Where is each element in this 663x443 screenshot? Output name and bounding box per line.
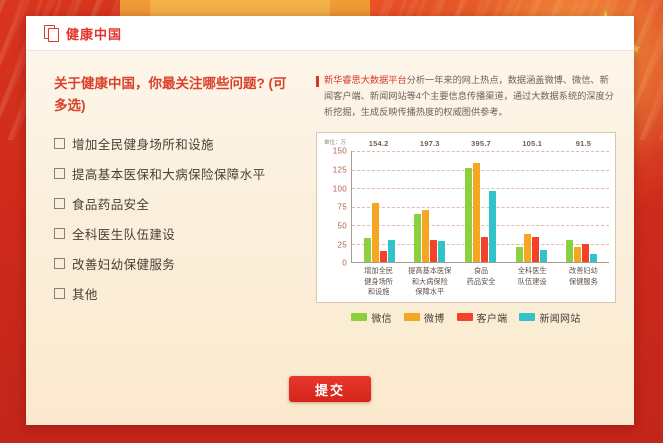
chart-plot-wrapper: 1501251007550250 xyxy=(323,151,609,263)
checkbox-icon[interactable] xyxy=(54,258,65,269)
chart-x-label: 提高基本医保和大病保险保障水平 xyxy=(404,266,455,297)
chart-bar xyxy=(489,191,496,263)
checkbox-icon[interactable] xyxy=(54,288,65,299)
chart-total-value: 197.3 xyxy=(404,139,455,150)
chart-total-value: 91.5 xyxy=(558,139,609,150)
chart-bar xyxy=(380,251,387,262)
chart-bar xyxy=(438,241,445,262)
option-label: 改善妇幼保健服务 xyxy=(72,254,175,273)
card-body: 关于健康中国，你最关注哪些问题? (可多选) 增加全民健身场所和设施提高基本医保… xyxy=(26,51,634,425)
brand-title: 健康中国 xyxy=(66,24,122,43)
options-list: 增加全民健身场所和设施提高基本医保和大病保险保障水平食品药品安全全科医生队伍建设… xyxy=(54,134,310,303)
chart-total-value: 105.1 xyxy=(507,139,558,150)
option-label: 全科医生队伍建设 xyxy=(72,224,175,243)
legend-swatch xyxy=(519,313,535,321)
checkbox-icon[interactable] xyxy=(54,198,65,209)
legend-swatch xyxy=(457,313,473,321)
page-title: 关于健康中国，你最关注哪些问题? (可多选) xyxy=(54,73,299,118)
option-row-2[interactable]: 食品药品安全 xyxy=(54,194,310,213)
chart-plot-area xyxy=(351,151,609,263)
option-row-0[interactable]: 增加全民健身场所和设施 xyxy=(54,134,310,153)
chart-bar xyxy=(540,250,547,263)
chart-x-axis-labels: 增加全民健身场所和设施提高基本医保和大病保险保障水平食品药品安全全科医生队伍建设… xyxy=(353,266,609,297)
legend-item-微信: 微信 xyxy=(351,310,392,325)
checkbox-icon[interactable] xyxy=(54,138,65,149)
chart-y-tick: 75 xyxy=(338,203,348,212)
hotspot-bar-chart: 单位：万 154.2197.3395.7105.191.5 1501251007… xyxy=(316,132,616,302)
chart-legend: 微信微博客户端新闻网站 xyxy=(316,310,616,325)
chart-bar xyxy=(481,237,488,262)
chart-bar xyxy=(582,244,589,262)
checkbox-icon[interactable] xyxy=(54,228,65,239)
checkbox-icon[interactable] xyxy=(54,168,65,179)
card-header: 健康中国 xyxy=(26,16,634,51)
chart-bar-group xyxy=(354,151,405,262)
chart-bar xyxy=(372,203,379,262)
submit-area: 提交 xyxy=(26,376,634,402)
chart-bar xyxy=(388,240,395,263)
chart-y-tick: 125 xyxy=(333,166,347,175)
chart-bar-group xyxy=(506,151,557,262)
chart-unit-label: 单位：万 xyxy=(324,138,346,146)
data-panel: 新华睿思大数据平台分析一年来的网上热点，数据涵盖微博、微信、新闻客户端、新闻网站… xyxy=(310,51,634,425)
option-row-1[interactable]: 提高基本医保和大病保险保障水平 xyxy=(54,164,310,183)
chart-bar xyxy=(516,247,523,263)
survey-question-panel: 关于健康中国，你最关注哪些问题? (可多选) 增加全民健身场所和设施提高基本医保… xyxy=(26,51,310,425)
option-row-3[interactable]: 全科医生队伍建设 xyxy=(54,224,310,243)
legend-item-微博: 微博 xyxy=(404,310,445,325)
chart-bar xyxy=(524,234,531,263)
legend-swatch xyxy=(404,313,420,321)
submit-button[interactable]: 提交 xyxy=(289,376,371,402)
chart-bar-group xyxy=(556,151,607,262)
legend-label: 微博 xyxy=(424,310,445,325)
chart-x-label: 增加全民健身场所和设施 xyxy=(353,266,404,297)
chart-bar xyxy=(566,240,573,262)
legend-label: 新闻网站 xyxy=(539,310,580,325)
chart-x-label: 全科医生队伍建设 xyxy=(507,266,558,297)
chart-bar xyxy=(430,240,437,262)
chart-x-label: 改善妇幼保健服务 xyxy=(558,266,609,297)
chart-bar xyxy=(422,210,429,263)
chart-y-tick: 25 xyxy=(338,240,348,249)
option-label: 食品药品安全 xyxy=(72,194,149,213)
legend-item-新闻网站: 新闻网站 xyxy=(519,310,580,325)
chart-bar-group xyxy=(405,151,456,262)
chart-total-labels: 154.2197.3395.7105.191.5 xyxy=(353,139,609,150)
option-row-5[interactable]: 其他 xyxy=(54,284,310,303)
description-accent-bar xyxy=(316,76,319,87)
option-label: 增加全民健身场所和设施 xyxy=(72,134,214,153)
legend-label: 客户端 xyxy=(477,310,508,325)
chart-bar-group xyxy=(455,151,506,262)
chart-total-value: 154.2 xyxy=(353,139,404,150)
description-block: 新华睿思大数据平台分析一年来的网上热点，数据涵盖微博、微信、新闻客户端、新闻网站… xyxy=(316,73,616,120)
chart-y-tick: 150 xyxy=(333,147,347,156)
chart-bar xyxy=(414,214,421,262)
chart-bars xyxy=(352,151,609,262)
option-row-4[interactable]: 改善妇幼保健服务 xyxy=(54,254,310,273)
survey-card: 健康中国 关于健康中国，你最关注哪些问题? (可多选) 增加全民健身场所和设施提… xyxy=(26,16,634,424)
chart-total-value: 395.7 xyxy=(455,139,506,150)
chart-bar xyxy=(532,237,539,262)
chart-x-label: 食品药品安全 xyxy=(455,266,506,297)
document-copy-icon xyxy=(44,25,58,41)
chart-y-tick: 50 xyxy=(338,222,348,231)
description-highlight: 新华睿思大数据平台 xyxy=(324,75,407,85)
legend-item-客户端: 客户端 xyxy=(457,310,508,325)
chart-bar xyxy=(473,163,480,262)
description-text: 新华睿思大数据平台分析一年来的网上热点，数据涵盖微博、微信、新闻客户端、新闻网站… xyxy=(324,73,616,120)
chart-y-axis: 1501251007550250 xyxy=(323,151,351,263)
option-label: 其他 xyxy=(72,284,98,303)
chart-bar xyxy=(364,238,371,262)
legend-swatch xyxy=(351,313,367,321)
option-label: 提高基本医保和大病保险保障水平 xyxy=(72,164,266,183)
chart-y-tick: 100 xyxy=(333,184,347,193)
legend-label: 微信 xyxy=(371,310,392,325)
chart-y-tick: 0 xyxy=(342,259,347,268)
chart-bar xyxy=(465,168,472,263)
chart-bar xyxy=(574,247,581,263)
chart-bar xyxy=(590,254,597,262)
